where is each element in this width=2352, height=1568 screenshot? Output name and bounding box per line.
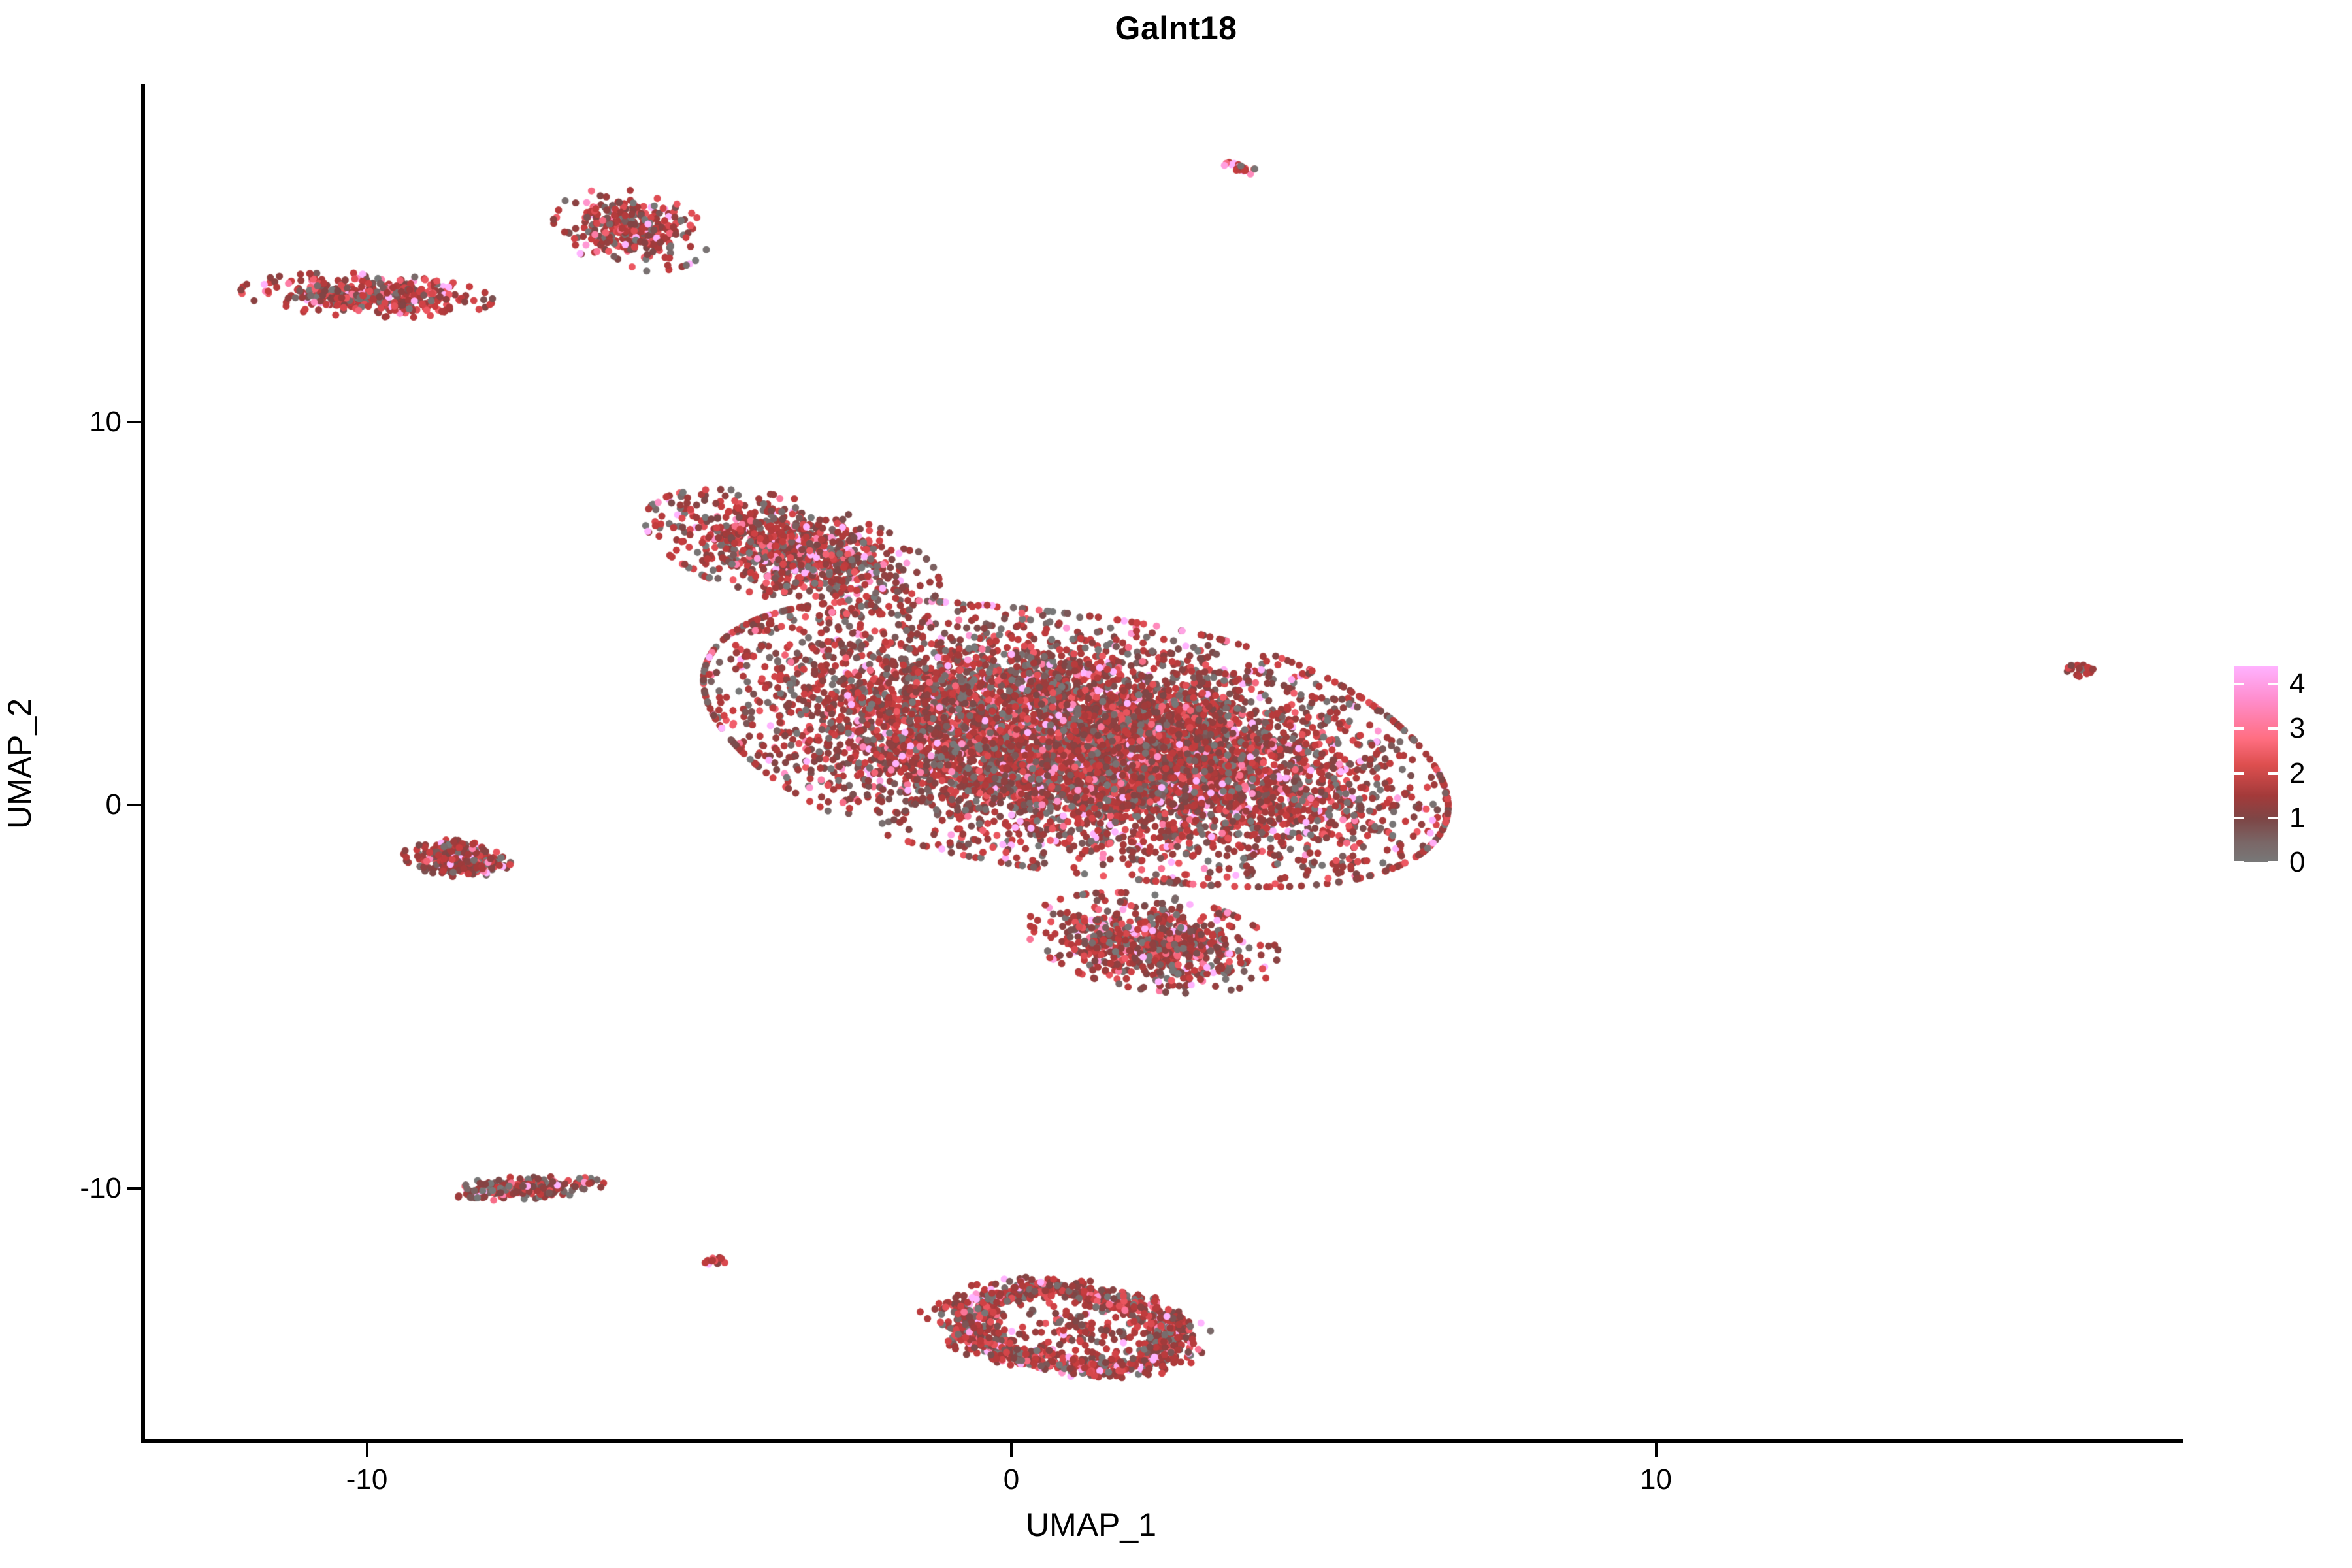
legend-tick-mark <box>2268 727 2278 730</box>
y-axis-tick-label: 0 <box>106 789 122 821</box>
legend-colorbar <box>2234 666 2278 862</box>
legend-tick-mark <box>2234 861 2244 864</box>
legend-tick-mark <box>2268 683 2278 685</box>
y-axis-title: UMAP_2 <box>1 535 39 992</box>
y-axis-tick <box>127 804 141 806</box>
legend-tick-mark <box>2268 772 2278 775</box>
legend-tick-label: 4 <box>2289 668 2305 700</box>
x-axis-tick-label: 0 <box>1004 1463 1019 1496</box>
legend-tick-label: 1 <box>2289 802 2305 834</box>
x-axis-tick <box>1010 1443 1013 1457</box>
legend-tick-mark <box>2234 727 2244 730</box>
legend-tick-mark <box>2268 817 2278 819</box>
x-axis-title: UMAP_1 <box>0 1506 2182 1544</box>
x-axis-tick-label: -10 <box>346 1463 388 1496</box>
page-title: Galnt18 <box>0 9 2352 47</box>
legend-tick-label: 2 <box>2289 757 2305 790</box>
legend-tick-mark <box>2234 683 2244 685</box>
y-axis-tick-label: -10 <box>80 1172 122 1205</box>
x-axis-tick <box>366 1443 368 1457</box>
legend-tick-mark <box>2234 817 2244 819</box>
x-axis-tick-label: 10 <box>1640 1463 1672 1496</box>
x-axis-tick <box>1655 1443 1658 1457</box>
legend-tick-label: 0 <box>2289 846 2305 879</box>
legend-tick-label: 3 <box>2289 712 2305 745</box>
feature-plot-root: Galnt18 100-10-10010 UMAP_1 UMAP_2 43210 <box>0 0 2352 1568</box>
legend-tick-mark <box>2268 861 2278 864</box>
y-axis-tick <box>127 1187 141 1190</box>
y-axis-tick <box>127 421 141 423</box>
y-axis-line <box>141 84 145 1443</box>
plot-panel <box>144 84 2183 1441</box>
legend-tick-mark <box>2234 772 2244 775</box>
scatter-points-canvas <box>144 84 2183 1441</box>
color-legend: 43210 <box>2234 666 2339 875</box>
y-axis-tick-label: 10 <box>90 406 122 438</box>
x-axis-line <box>141 1439 2183 1443</box>
